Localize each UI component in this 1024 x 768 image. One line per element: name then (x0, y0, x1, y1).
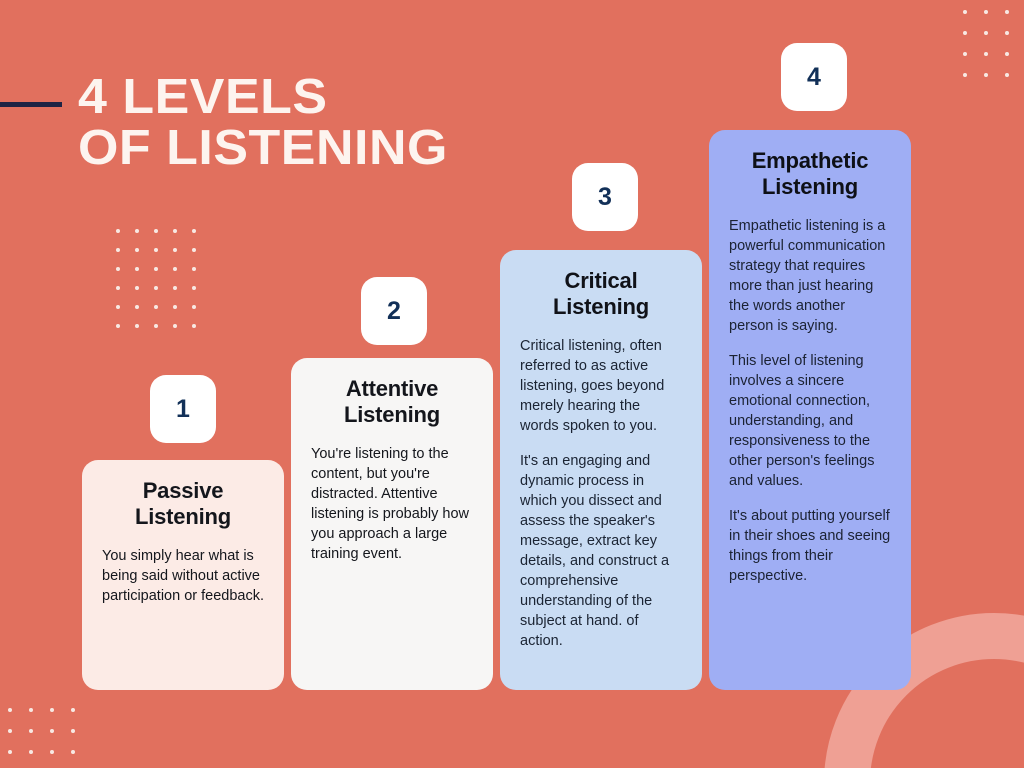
decorative-dot (135, 267, 139, 271)
decorative-dot (154, 286, 158, 290)
decorative-dot (984, 31, 988, 35)
decorative-dot (71, 729, 75, 733)
level-card-paragraph: You're listening to the content, but you… (311, 444, 473, 564)
decorative-dot (1005, 52, 1009, 56)
decorative-dot (154, 267, 158, 271)
decorative-dot (8, 708, 12, 712)
decorative-dot (1005, 31, 1009, 35)
decorative-dot (116, 286, 120, 290)
decorative-dot (192, 305, 196, 309)
level-card-paragraph: Critical listening, often referred to as… (520, 336, 682, 436)
infographic-canvas: 4 LEVELS OF LISTENING Passive Listening … (0, 0, 1024, 768)
decorative-dot (71, 750, 75, 754)
decorative-dot (116, 229, 120, 233)
level-card-paragraph: Empathetic listening is a powerful commu… (729, 216, 891, 336)
dot-grid-top-right (963, 10, 1024, 94)
decorative-dot (963, 31, 967, 35)
level-card-paragraph: It's about putting yourself in their sho… (729, 506, 891, 586)
decorative-dot (135, 324, 139, 328)
decorative-dot (135, 229, 139, 233)
decorative-dot (984, 10, 988, 14)
decorative-dot (29, 708, 33, 712)
decorative-dot (963, 10, 967, 14)
level-card-body: Critical listening, often referred to as… (520, 336, 682, 651)
decorative-dot (1005, 10, 1009, 14)
level-card-passive-listening: Passive Listening You simply hear what i… (82, 460, 284, 690)
level-card-title: Passive Listening (102, 478, 264, 530)
decorative-dot (154, 324, 158, 328)
decorative-dot (135, 286, 139, 290)
decorative-dot (116, 324, 120, 328)
level-card-title: Critical Listening (520, 268, 682, 320)
decorative-dot (116, 248, 120, 252)
level-card-title: Attentive Listening (311, 376, 473, 428)
level-card-paragraph: You simply hear what is being said witho… (102, 546, 264, 606)
decorative-dot (984, 73, 988, 77)
decorative-dot (1005, 73, 1009, 77)
level-card-paragraph: This level of listening involves a since… (729, 351, 891, 491)
dot-grid-bottom-left (8, 708, 92, 768)
decorative-dot (50, 708, 54, 712)
level-card-body: You simply hear what is being said witho… (102, 546, 264, 606)
level-card-body: You're listening to the content, but you… (311, 444, 473, 564)
decorative-dot (192, 324, 196, 328)
decorative-dot (154, 248, 158, 252)
decorative-dot (173, 229, 177, 233)
level-card-attentive-listening: Attentive Listening You're listening to … (291, 358, 493, 690)
decorative-dot (50, 750, 54, 754)
decorative-dot (173, 248, 177, 252)
decorative-dot (135, 248, 139, 252)
decorative-dot (173, 305, 177, 309)
level-badge-2: 2 (361, 277, 427, 345)
decorative-dot (192, 229, 196, 233)
decorative-dot (984, 52, 988, 56)
level-card-title: Empathetic Listening (729, 148, 891, 200)
decorative-dot (71, 708, 75, 712)
decorative-dot (173, 267, 177, 271)
decorative-dot (29, 729, 33, 733)
decorative-dot (173, 324, 177, 328)
decorative-dot (116, 267, 120, 271)
decorative-dot (8, 750, 12, 754)
decorative-dot (8, 729, 12, 733)
level-badge-3: 3 (572, 163, 638, 231)
decorative-dot (173, 286, 177, 290)
decorative-dot (154, 229, 158, 233)
level-badge-4: 4 (781, 43, 847, 111)
decorative-dot (154, 305, 158, 309)
dot-grid-left (116, 229, 211, 343)
decorative-dot (50, 729, 54, 733)
title-rule (0, 102, 62, 107)
decorative-dot (192, 267, 196, 271)
decorative-dot (116, 305, 120, 309)
decorative-dot (963, 73, 967, 77)
level-card-empathetic-listening: Empathetic Listening Empathetic listenin… (709, 130, 911, 690)
level-card-paragraph: It's an engaging and dynamic process in … (520, 451, 682, 651)
level-card-critical-listening: Critical Listening Critical listening, o… (500, 250, 702, 690)
page-title: 4 LEVELS OF LISTENING (78, 72, 448, 174)
decorative-dot (963, 52, 967, 56)
decorative-dot (29, 750, 33, 754)
decorative-dot (135, 305, 139, 309)
decorative-dot (192, 286, 196, 290)
decorative-dot (192, 248, 196, 252)
level-badge-1: 1 (150, 375, 216, 443)
level-card-body: Empathetic listening is a powerful commu… (729, 216, 891, 586)
